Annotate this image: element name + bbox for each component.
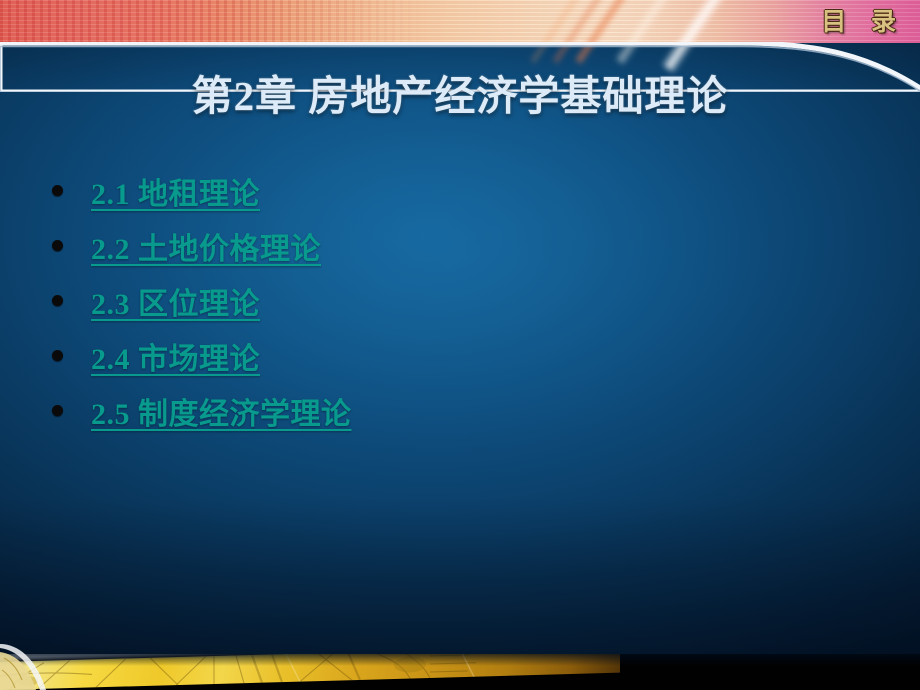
contents-link-2-2[interactable]: 2.2 土地价格理论 — [91, 224, 321, 268]
bottom-decoration — [0, 654, 920, 690]
contents-link-2-1[interactable]: 2.1 地租理论 — [91, 169, 260, 213]
bottom-strip-shadow — [0, 654, 920, 666]
top-banner — [0, 0, 920, 52]
bullet-icon — [52, 405, 63, 416]
contents-link-2-5[interactable]: 2.5 制度经济学理论 — [91, 389, 352, 433]
contents-list: 2.1 地租理论 2.2 土地价格理论 2.3 区位理论 2.4 市场理论 2.… — [52, 163, 752, 438]
list-item[interactable]: 2.5 制度经济学理论 — [52, 383, 752, 438]
presentation-slide: 目 录 第2章 房地产经济学基础理论 2.1 地租理论 2.2 土地价格理论 2… — [0, 0, 920, 690]
bullet-icon — [52, 185, 63, 196]
banner-weave-texture — [0, 0, 430, 43]
contents-link-2-3[interactable]: 2.3 区位理论 — [91, 279, 260, 323]
bullet-icon — [52, 350, 63, 361]
list-item[interactable]: 2.2 土地价格理论 — [52, 218, 752, 273]
bullet-icon — [52, 295, 63, 306]
page-title: 第2章 房地产经济学基础理论 — [0, 62, 920, 122]
table-of-contents-button[interactable]: 目 录 — [821, 2, 904, 38]
contents-link-2-4[interactable]: 2.4 市场理论 — [91, 334, 260, 378]
bullet-icon — [52, 240, 63, 251]
list-item[interactable]: 2.3 区位理论 — [52, 273, 752, 328]
bottom-left-corner-fold — [0, 644, 60, 690]
list-item[interactable]: 2.1 地租理论 — [52, 163, 752, 218]
list-item[interactable]: 2.4 市场理论 — [52, 328, 752, 383]
